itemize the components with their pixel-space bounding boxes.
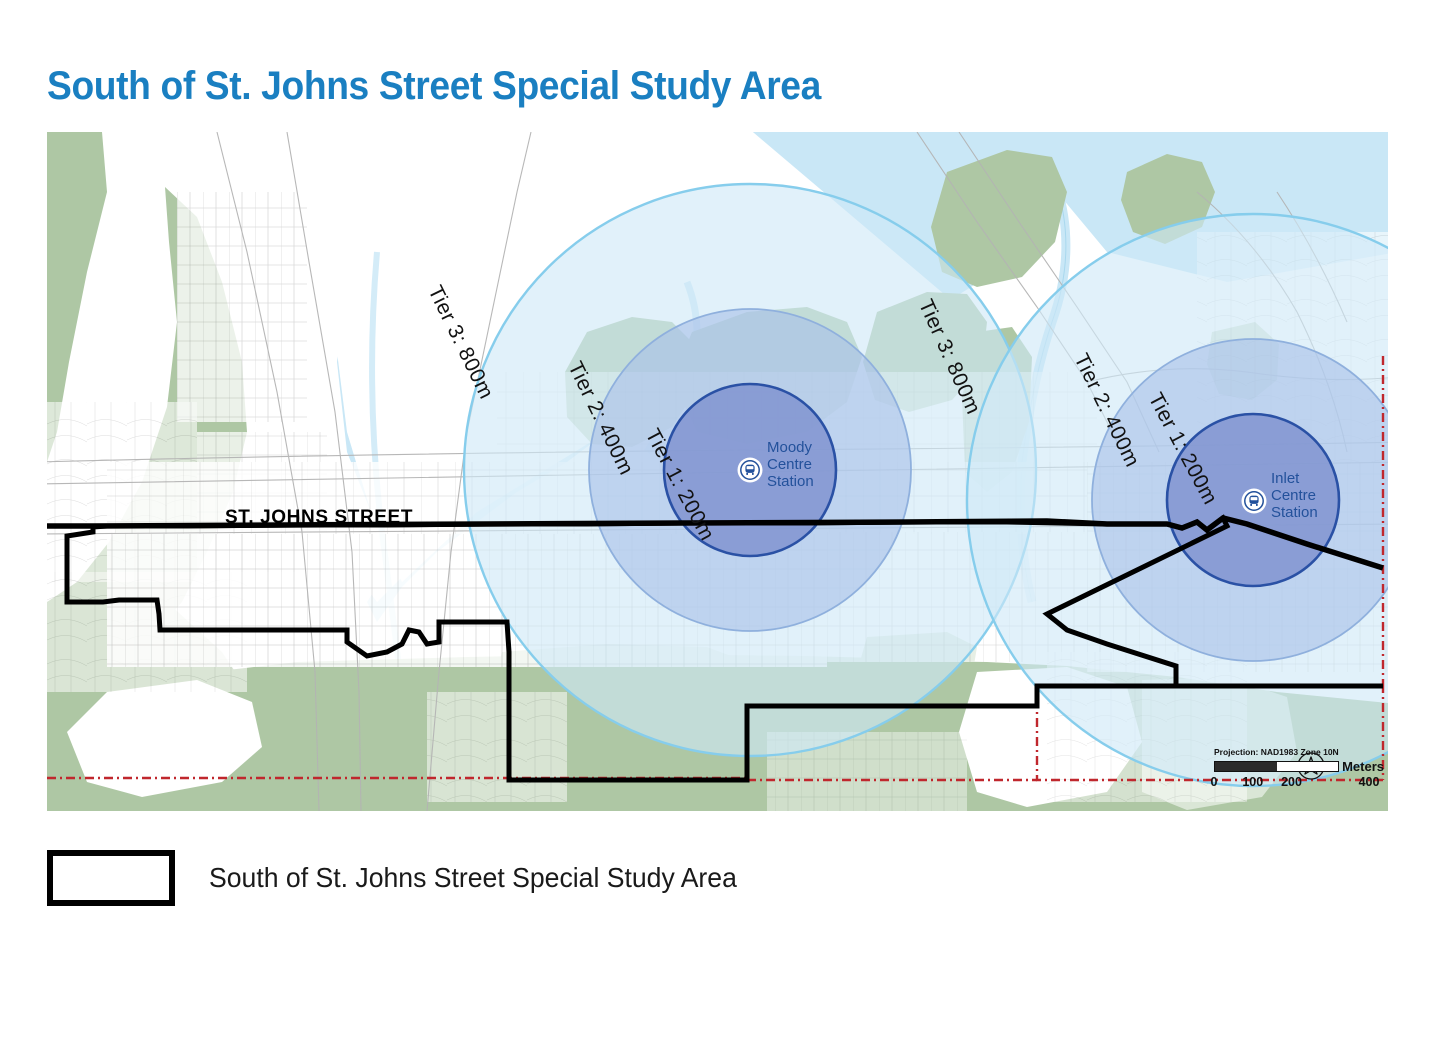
legend: South of St. Johns Street Special Study … bbox=[47, 850, 765, 906]
page-title: South of St. Johns Street Special Study … bbox=[47, 64, 821, 109]
legend-label-study-area: South of St. Johns Street Special Study … bbox=[209, 862, 737, 894]
north-arrow-icon bbox=[1296, 751, 1326, 781]
map-graphic bbox=[47, 132, 1398, 811]
legend-swatch-study-area bbox=[47, 850, 175, 906]
transit-station-icon[interactable] bbox=[1243, 490, 1265, 512]
transit-station-icon[interactable] bbox=[739, 459, 761, 481]
map-canvas[interactable]: Tier 3: 800m Tier 2: 400m Tier 1: 200m T… bbox=[47, 132, 1398, 811]
